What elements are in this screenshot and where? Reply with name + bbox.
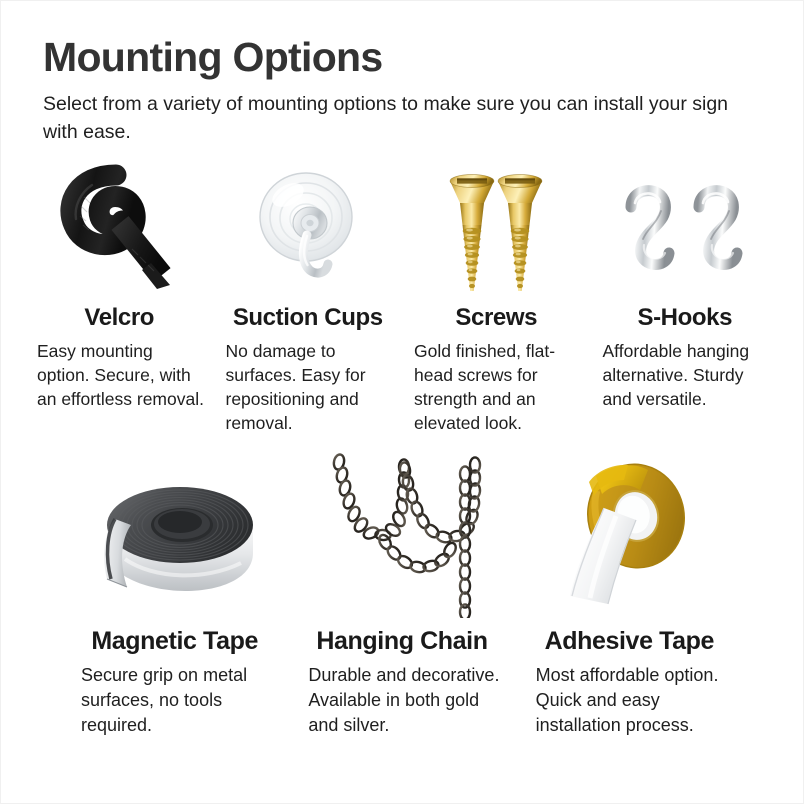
page-title: Mounting Options (43, 35, 763, 79)
option-card-hanging-chain: Hanging Chain Durable and decorative. Av… (288, 454, 515, 738)
option-description: Secure grip on metal surfaces, no tools … (71, 663, 278, 737)
option-title: Velcro (84, 305, 154, 331)
option-card-magnetic-tape: Magnetic Tape Secure grip on metal surfa… (61, 454, 288, 738)
option-title: Hanging Chain (316, 628, 487, 656)
screws-art (410, 163, 583, 291)
option-title: Suction Cups (233, 305, 383, 331)
velcro-strap-art (33, 163, 206, 291)
option-description: Easy mounting option. Secure, with an ef… (33, 339, 206, 411)
option-title: Magnetic Tape (91, 628, 258, 656)
magnetic-tape-roll-icon (85, 459, 265, 609)
option-description: No damage to surfaces. Easy for repositi… (222, 339, 395, 436)
header: Mounting Options Select from a variety o… (1, 1, 803, 147)
suction-cup-hook-icon (244, 163, 372, 291)
option-title: Adhesive Tape (545, 628, 714, 656)
option-card-screws: Screws Gold finished, flat-head screws f… (402, 163, 591, 436)
page-subtitle: Select from a variety of mounting option… (43, 91, 733, 146)
option-card-suction-cups: Suction Cups No damage to surfaces. Easy… (214, 163, 403, 436)
option-card-adhesive-tape: Adhesive Tape Most affordable option. Qu… (516, 454, 743, 738)
option-card-velcro: Velcro Easy mounting option. Secure, wit… (25, 163, 214, 436)
mounting-options-row-1: Velcro Easy mounting option. Secure, wit… (1, 163, 803, 436)
option-title: Screws (455, 305, 537, 331)
suction-cup-art (222, 163, 395, 291)
magnetic-tape-art (71, 454, 278, 614)
option-card-s-hooks: S-Hooks Affordable hanging alternative. … (591, 163, 780, 436)
adhesive-tape-art (526, 454, 733, 614)
mounting-options-row-2: Magnetic Tape Secure grip on metal surfa… (1, 454, 803, 738)
option-description: Durable and decorative. Available in bot… (298, 663, 505, 737)
hanging-chain-icon (319, 450, 484, 618)
option-title: S-Hooks (637, 305, 732, 331)
flat-head-screws-icon (432, 163, 560, 291)
option-description: Gold finished, flat-head screws for stre… (410, 339, 583, 436)
adhesive-tape-roll-icon (544, 456, 714, 611)
velcro-strap-icon (54, 163, 184, 291)
s-hooks-art (599, 163, 772, 291)
hanging-chain-art (298, 454, 505, 614)
option-description: Affordable hanging alternative. Sturdy a… (599, 339, 772, 411)
mounting-options-infographic: Mounting Options Select from a variety o… (0, 0, 804, 804)
s-hooks-icon (615, 163, 755, 291)
option-description: Most affordable option. Quick and easy i… (526, 663, 733, 737)
